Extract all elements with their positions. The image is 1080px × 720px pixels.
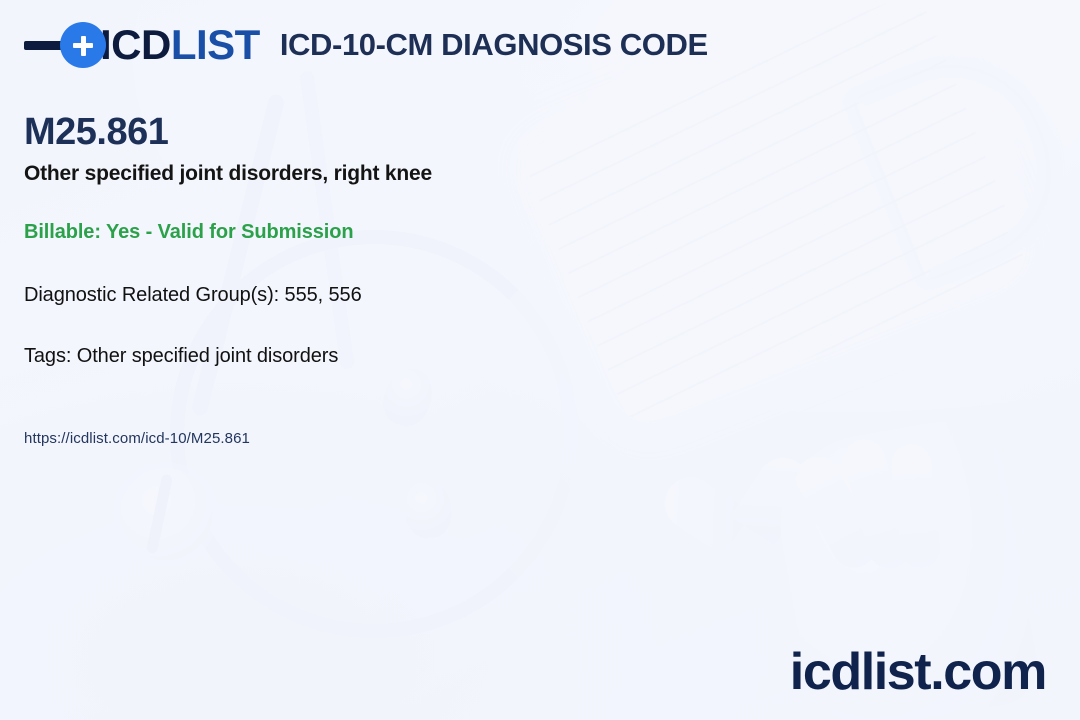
mask-ear-loop-icon	[855, 41, 1074, 279]
diagnostic-related-groups: Diagnostic Related Group(s): 555, 556	[24, 284, 724, 307]
paper-heart-icon	[681, 461, 795, 575]
tags-line: Tags: Other specified joint disorders	[24, 345, 724, 368]
diagnosis-description: Other specified joint disorders, right k…	[24, 161, 724, 187]
logo-word-icd: ICD	[100, 21, 171, 68]
source-url[interactable]: https://icdlist.com/icd-10/M25.861	[24, 430, 724, 447]
icd-code-card: ICDLIST ICD-10-CM DIAGNOSIS CODE M25.861…	[0, 0, 1080, 720]
finger-icon	[839, 435, 916, 573]
plus-vertical-bar-icon	[81, 36, 86, 56]
header: ICDLIST ICD-10-CM DIAGNOSIS CODE	[24, 22, 708, 68]
finger-icon	[890, 442, 943, 570]
stethoscope-chestpiece-icon	[120, 468, 212, 560]
diagnosis-code: M25.861	[24, 112, 724, 153]
footer-brand: icdlist.com	[790, 646, 1046, 698]
page-title: ICD-10-CM DIAGNOSIS CODE	[280, 29, 708, 62]
billable-status: Billable: Yes - Valid for Submission	[24, 221, 724, 244]
icdlist-logo[interactable]: ICDLIST	[24, 22, 260, 68]
finger-icon	[788, 449, 883, 576]
logo-wordmark: ICDLIST	[100, 24, 260, 66]
logo-word-list: LIST	[171, 21, 260, 68]
stethoscope-eartip-lower-icon	[402, 478, 454, 540]
blue-circle-plus-icon	[60, 22, 106, 68]
code-details: M25.861 Other specified joint disorders,…	[24, 112, 724, 447]
